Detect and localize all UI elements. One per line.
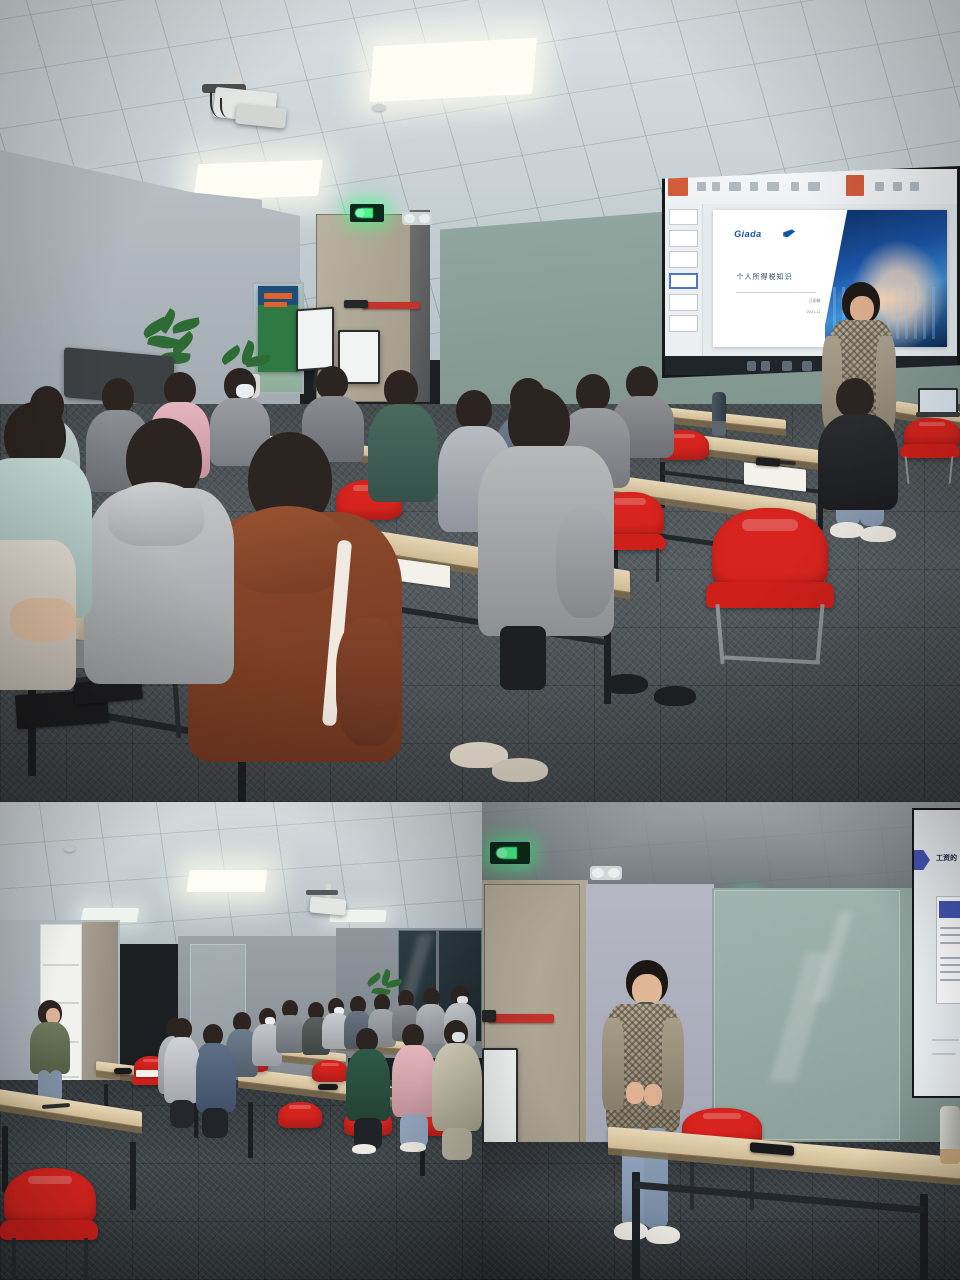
presenter-shoe [614,1222,648,1240]
attendee [346,1028,390,1148]
slide-logo-mark [783,229,795,237]
chair [900,418,960,484]
slide-presenter: 汪丽敏 [765,298,821,304]
ppt-ribbon-icon[interactable] [791,182,800,191]
search-icon[interactable] [761,361,770,371]
ppt-ribbon-icon[interactable] [697,182,706,191]
slide-thumbnail[interactable] [669,315,697,332]
slide-title: 个人所得税知识 [736,272,792,282]
presenter-hand [626,1082,644,1104]
chair [276,1102,324,1150]
attendee [432,1020,482,1160]
door-push-bar [344,300,368,308]
photo-panel-bottom-left [0,802,482,1280]
slide-heading: 工资的 [936,853,957,863]
attendee-grey-tracksuit [478,388,614,688]
water-bottle [712,392,726,436]
smartphone [318,1084,338,1090]
attendee [164,1018,200,1126]
attendee [392,1024,436,1148]
face-mask [452,1032,465,1042]
laptop-screen [918,388,958,414]
ppt-share-button[interactable] [846,175,864,197]
attendee-grey-hoodie [84,418,234,688]
smoke-detector [64,846,75,852]
chair [706,508,834,668]
slide-thumbnail-active[interactable] [669,273,697,290]
presenter-shoe [830,522,864,538]
attendee [0,540,76,730]
emergency-light [590,866,622,880]
ppt-ribbon-icon[interactable] [893,182,902,191]
exit-sign [490,842,530,864]
laptop-base [916,412,960,417]
chair [310,1060,350,1102]
smartphone [114,1068,132,1074]
presenter-arm [662,1018,684,1110]
flip-chart [296,307,334,372]
shoe [492,758,548,782]
speaker [28,1000,72,1102]
shoe [654,686,696,706]
hood [224,506,350,594]
ceiling-projector [294,884,356,924]
presenter-shoe [860,526,896,542]
explorer-icon[interactable] [802,361,812,371]
ppt-ribbon-icon[interactable] [729,182,741,191]
slide-arrow-shape [914,850,930,870]
photo-collage: Giada 个人所得税知识 汪丽敏 2021.11 [0,0,960,1280]
led-panel-light [369,38,537,102]
slide-logo-text: Giada [734,229,762,239]
presenter [604,960,682,1256]
shoe [604,674,648,694]
exit-sign [350,204,384,222]
exit-sign-glyph [354,208,380,217]
ppt-ribbon-icon[interactable] [808,182,820,191]
presenter-shoe [646,1226,680,1244]
smoke-detector [372,104,386,111]
attendee [196,1024,236,1136]
led-panel-light [186,870,267,892]
speaker-torso [30,1022,70,1074]
notebook [756,457,780,467]
screen-surface: Giada 个人所得税知识 汪丽敏 2021.11 [665,169,957,375]
slide-thumbnail[interactable] [669,230,697,247]
ppt-ribbon-icon[interactable] [750,182,759,191]
start-icon[interactable] [747,361,756,371]
projection-screen: 工资的 [912,808,960,1098]
door-push-bar [362,302,420,309]
slide-thumbnail[interactable] [669,209,697,226]
projection-screen: Giada 个人所得税知识 汪丽敏 2021.11 [662,166,960,378]
slide-thumbnail[interactable] [669,294,697,311]
emergency-light [402,212,432,225]
chair [0,1168,98,1278]
slide-divider [736,292,815,293]
presenter-hand [644,1084,662,1106]
ppt-ribbon-icon[interactable] [712,182,721,191]
slide-content-box [936,896,960,1005]
presenter-arm [602,1018,624,1110]
slide-thumbnail[interactable] [669,251,697,268]
ceiling-projector [188,72,298,138]
ppt-slide-thumbnails[interactable] [665,204,703,356]
attendee [276,1000,304,1054]
slide-box-header [939,901,960,918]
photo-panel-bottom-right: 工资的 [482,802,960,1280]
door-push-bar [482,1010,496,1022]
ppt-ribbon-icon[interactable] [875,182,884,191]
attendee [818,378,898,508]
face-mask [236,384,254,398]
photo-panel-top: Giada 个人所得税知识 汪丽敏 2021.11 [0,0,960,802]
water-bottle [940,1106,960,1164]
door-push-bar [488,1014,554,1023]
ppt-ribbon-icon[interactable] [910,182,919,191]
hood [108,482,204,546]
task-view-icon[interactable] [782,361,792,371]
presenter-face [850,296,874,322]
ppt-ribbon-icon[interactable] [767,182,779,191]
screen-surface: 工资的 [914,810,960,1096]
notepad [136,1070,158,1077]
exit-sign-glyph [495,847,525,859]
slide-date: 2021.11 [765,309,821,314]
